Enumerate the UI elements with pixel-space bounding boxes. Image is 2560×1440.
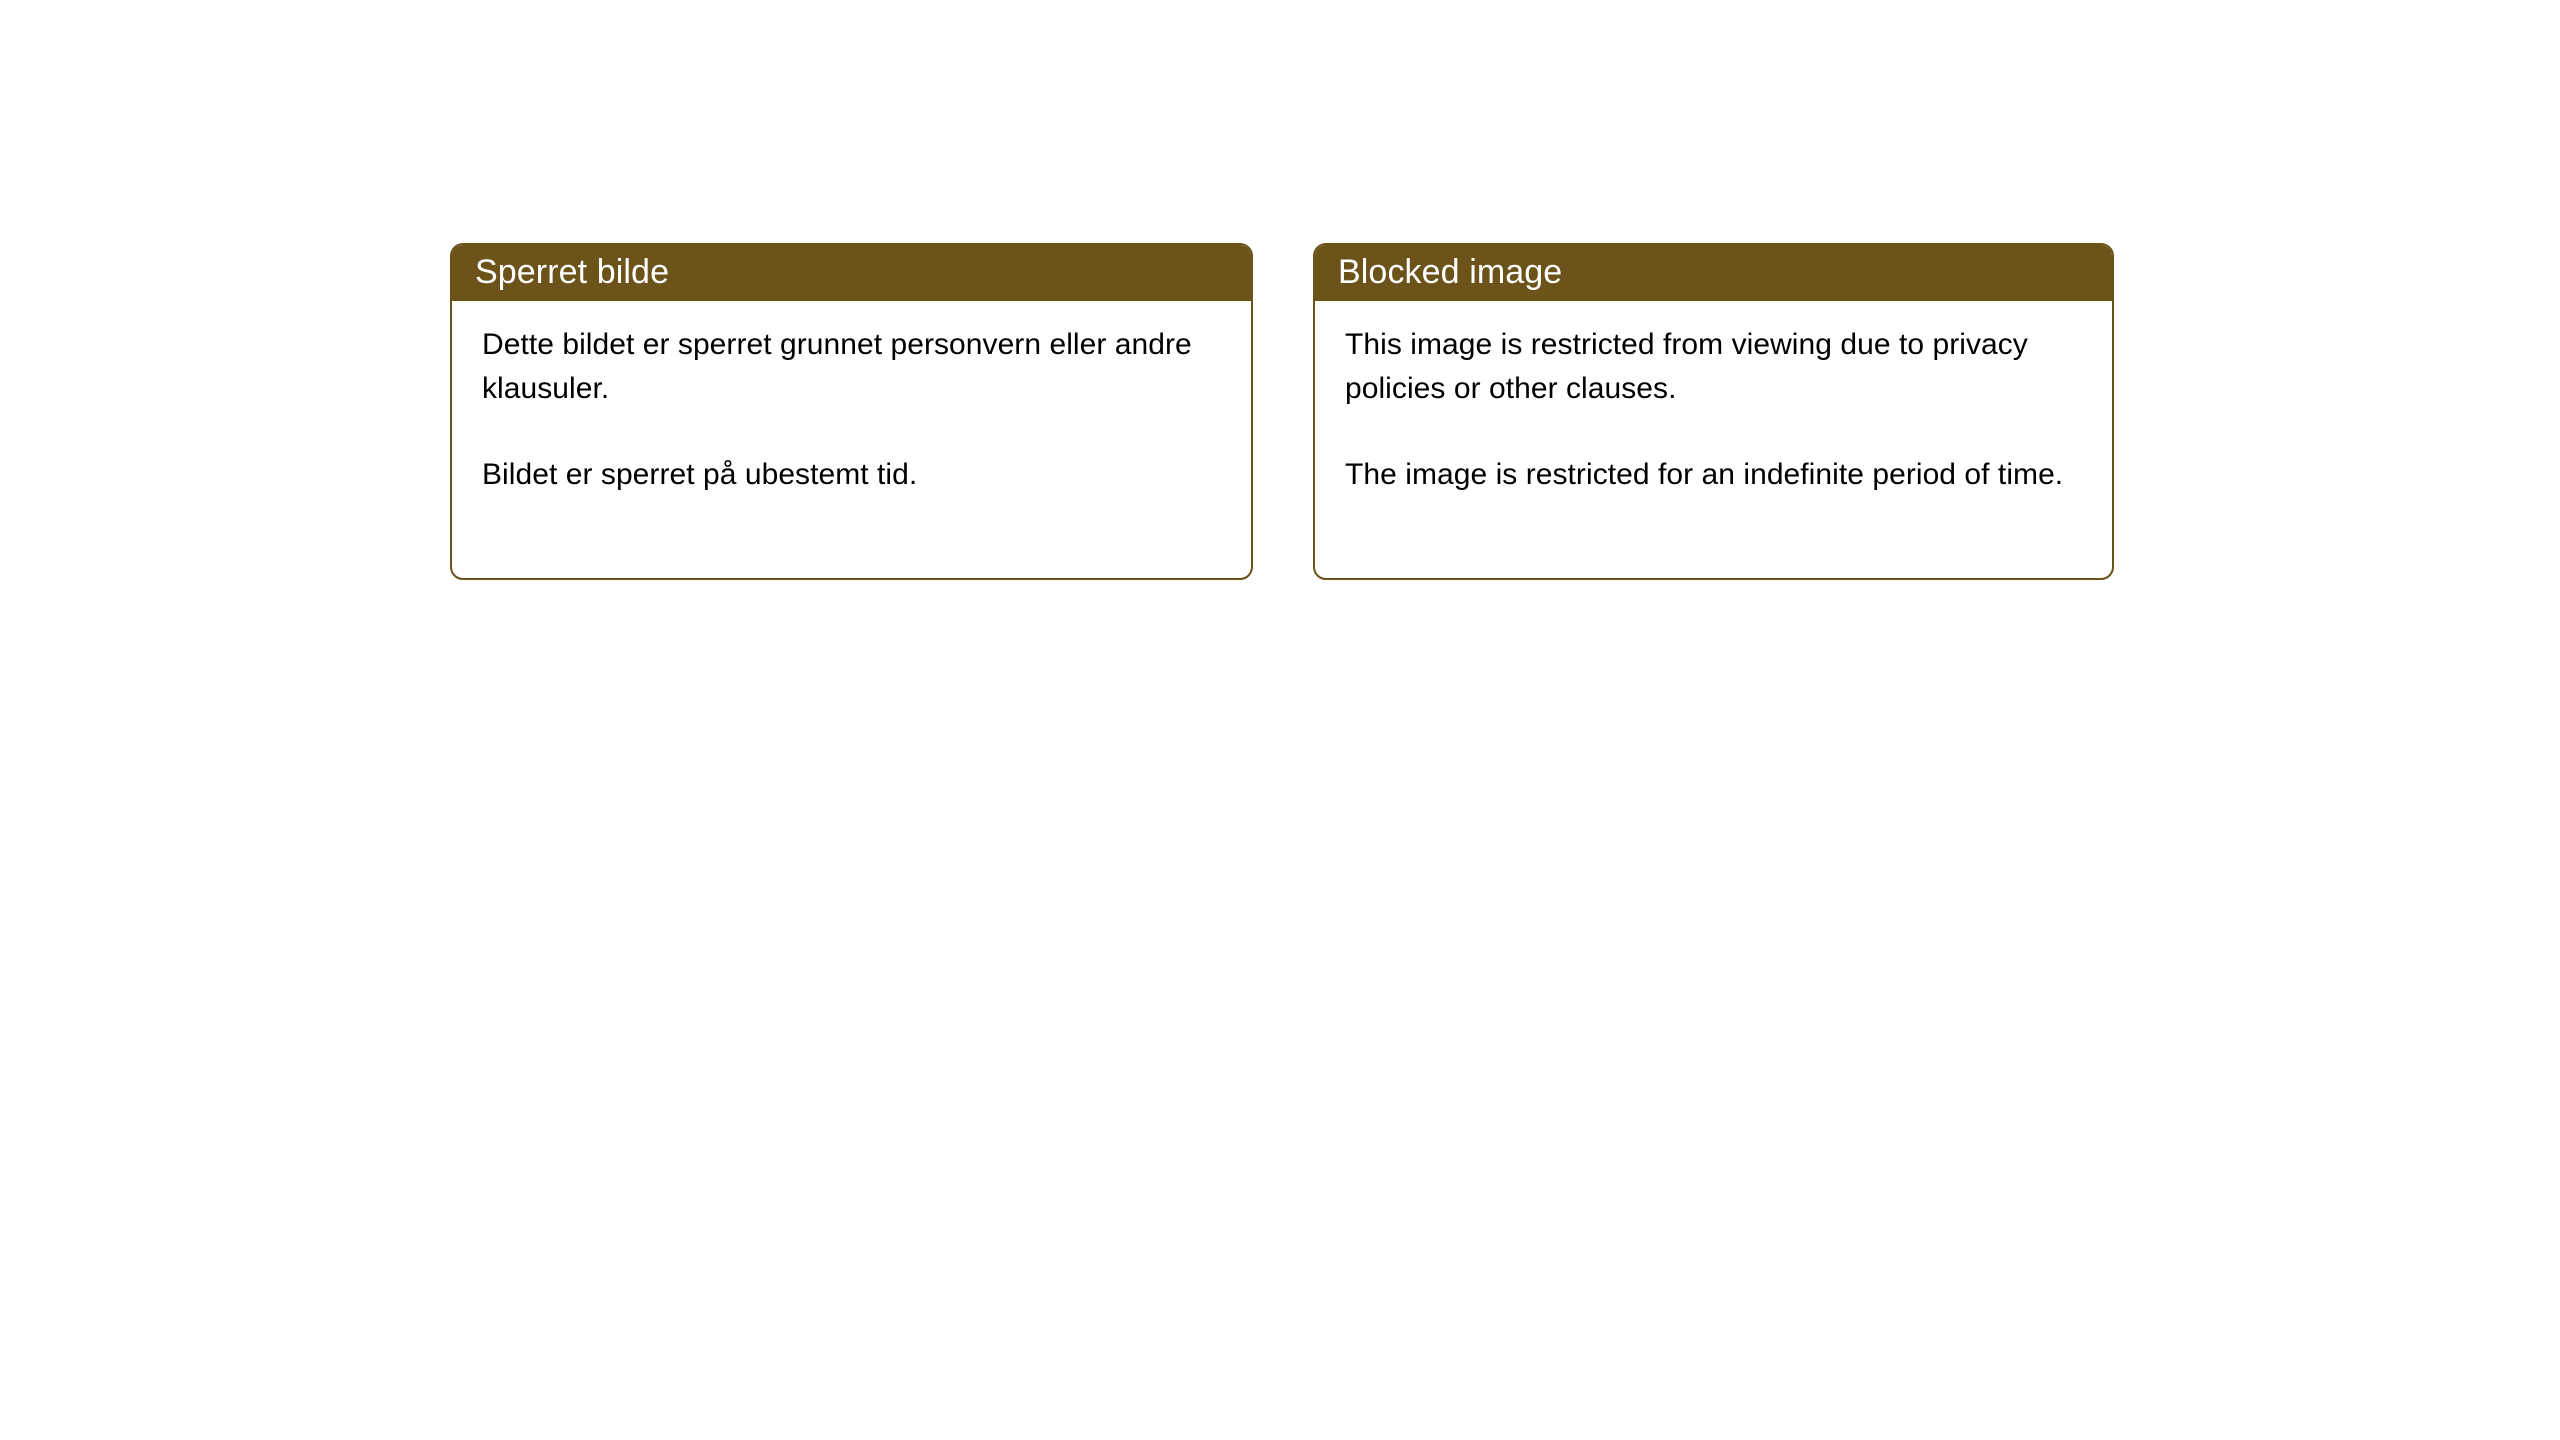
blocked-image-card-english: Blocked image This image is restricted f… <box>1313 243 2114 580</box>
card-title-norwegian: Sperret bilde <box>475 253 669 291</box>
card-paragraph-reason-english: This image is restricted from viewing du… <box>1345 323 2088 411</box>
blocked-image-card-norwegian: Sperret bilde Dette bildet er sperret gr… <box>450 243 1253 580</box>
card-body-english: This image is restricted from viewing du… <box>1315 301 2112 497</box>
card-body-norwegian: Dette bildet er sperret grunnet personve… <box>452 301 1251 497</box>
card-paragraph-reason-norwegian: Dette bildet er sperret grunnet personve… <box>482 323 1227 411</box>
blocked-image-notice-area: Sperret bilde Dette bildet er sperret gr… <box>0 0 2560 1440</box>
card-header-norwegian: Sperret bilde <box>450 243 1253 301</box>
card-title-english: Blocked image <box>1338 253 1562 291</box>
card-header-english: Blocked image <box>1313 243 2114 301</box>
card-paragraph-duration-norwegian: Bildet er sperret på ubestemt tid. <box>482 453 1227 497</box>
card-paragraph-duration-english: The image is restricted for an indefinit… <box>1345 453 2088 497</box>
